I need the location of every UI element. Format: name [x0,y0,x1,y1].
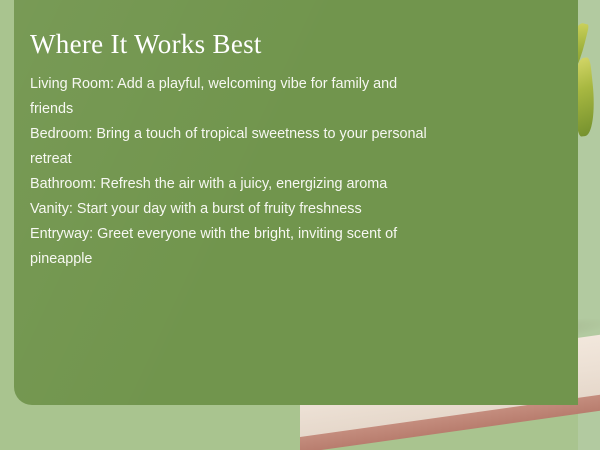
slide-canvas: Soul & Scents PINEAPPLE MODERN NATURALS … [0,0,600,450]
usage-item-entryway: Entryway: Greet everyone with the bright… [30,222,430,272]
usage-item-bathroom: Bathroom: Refresh the air with a juicy, … [30,172,430,197]
usage-item-vanity: Vanity: Start your day with a burst of f… [30,197,430,222]
page-title: Where It Works Best [30,30,430,60]
usage-item-living-room: Living Room: Add a playful, welcoming vi… [30,72,430,122]
usage-list: Living Room: Add a playful, welcoming vi… [30,72,430,272]
usage-item-bedroom: Bedroom: Bring a touch of tropical sweet… [30,122,430,172]
text-block: Where It Works Best Living Room: Add a p… [30,30,430,272]
